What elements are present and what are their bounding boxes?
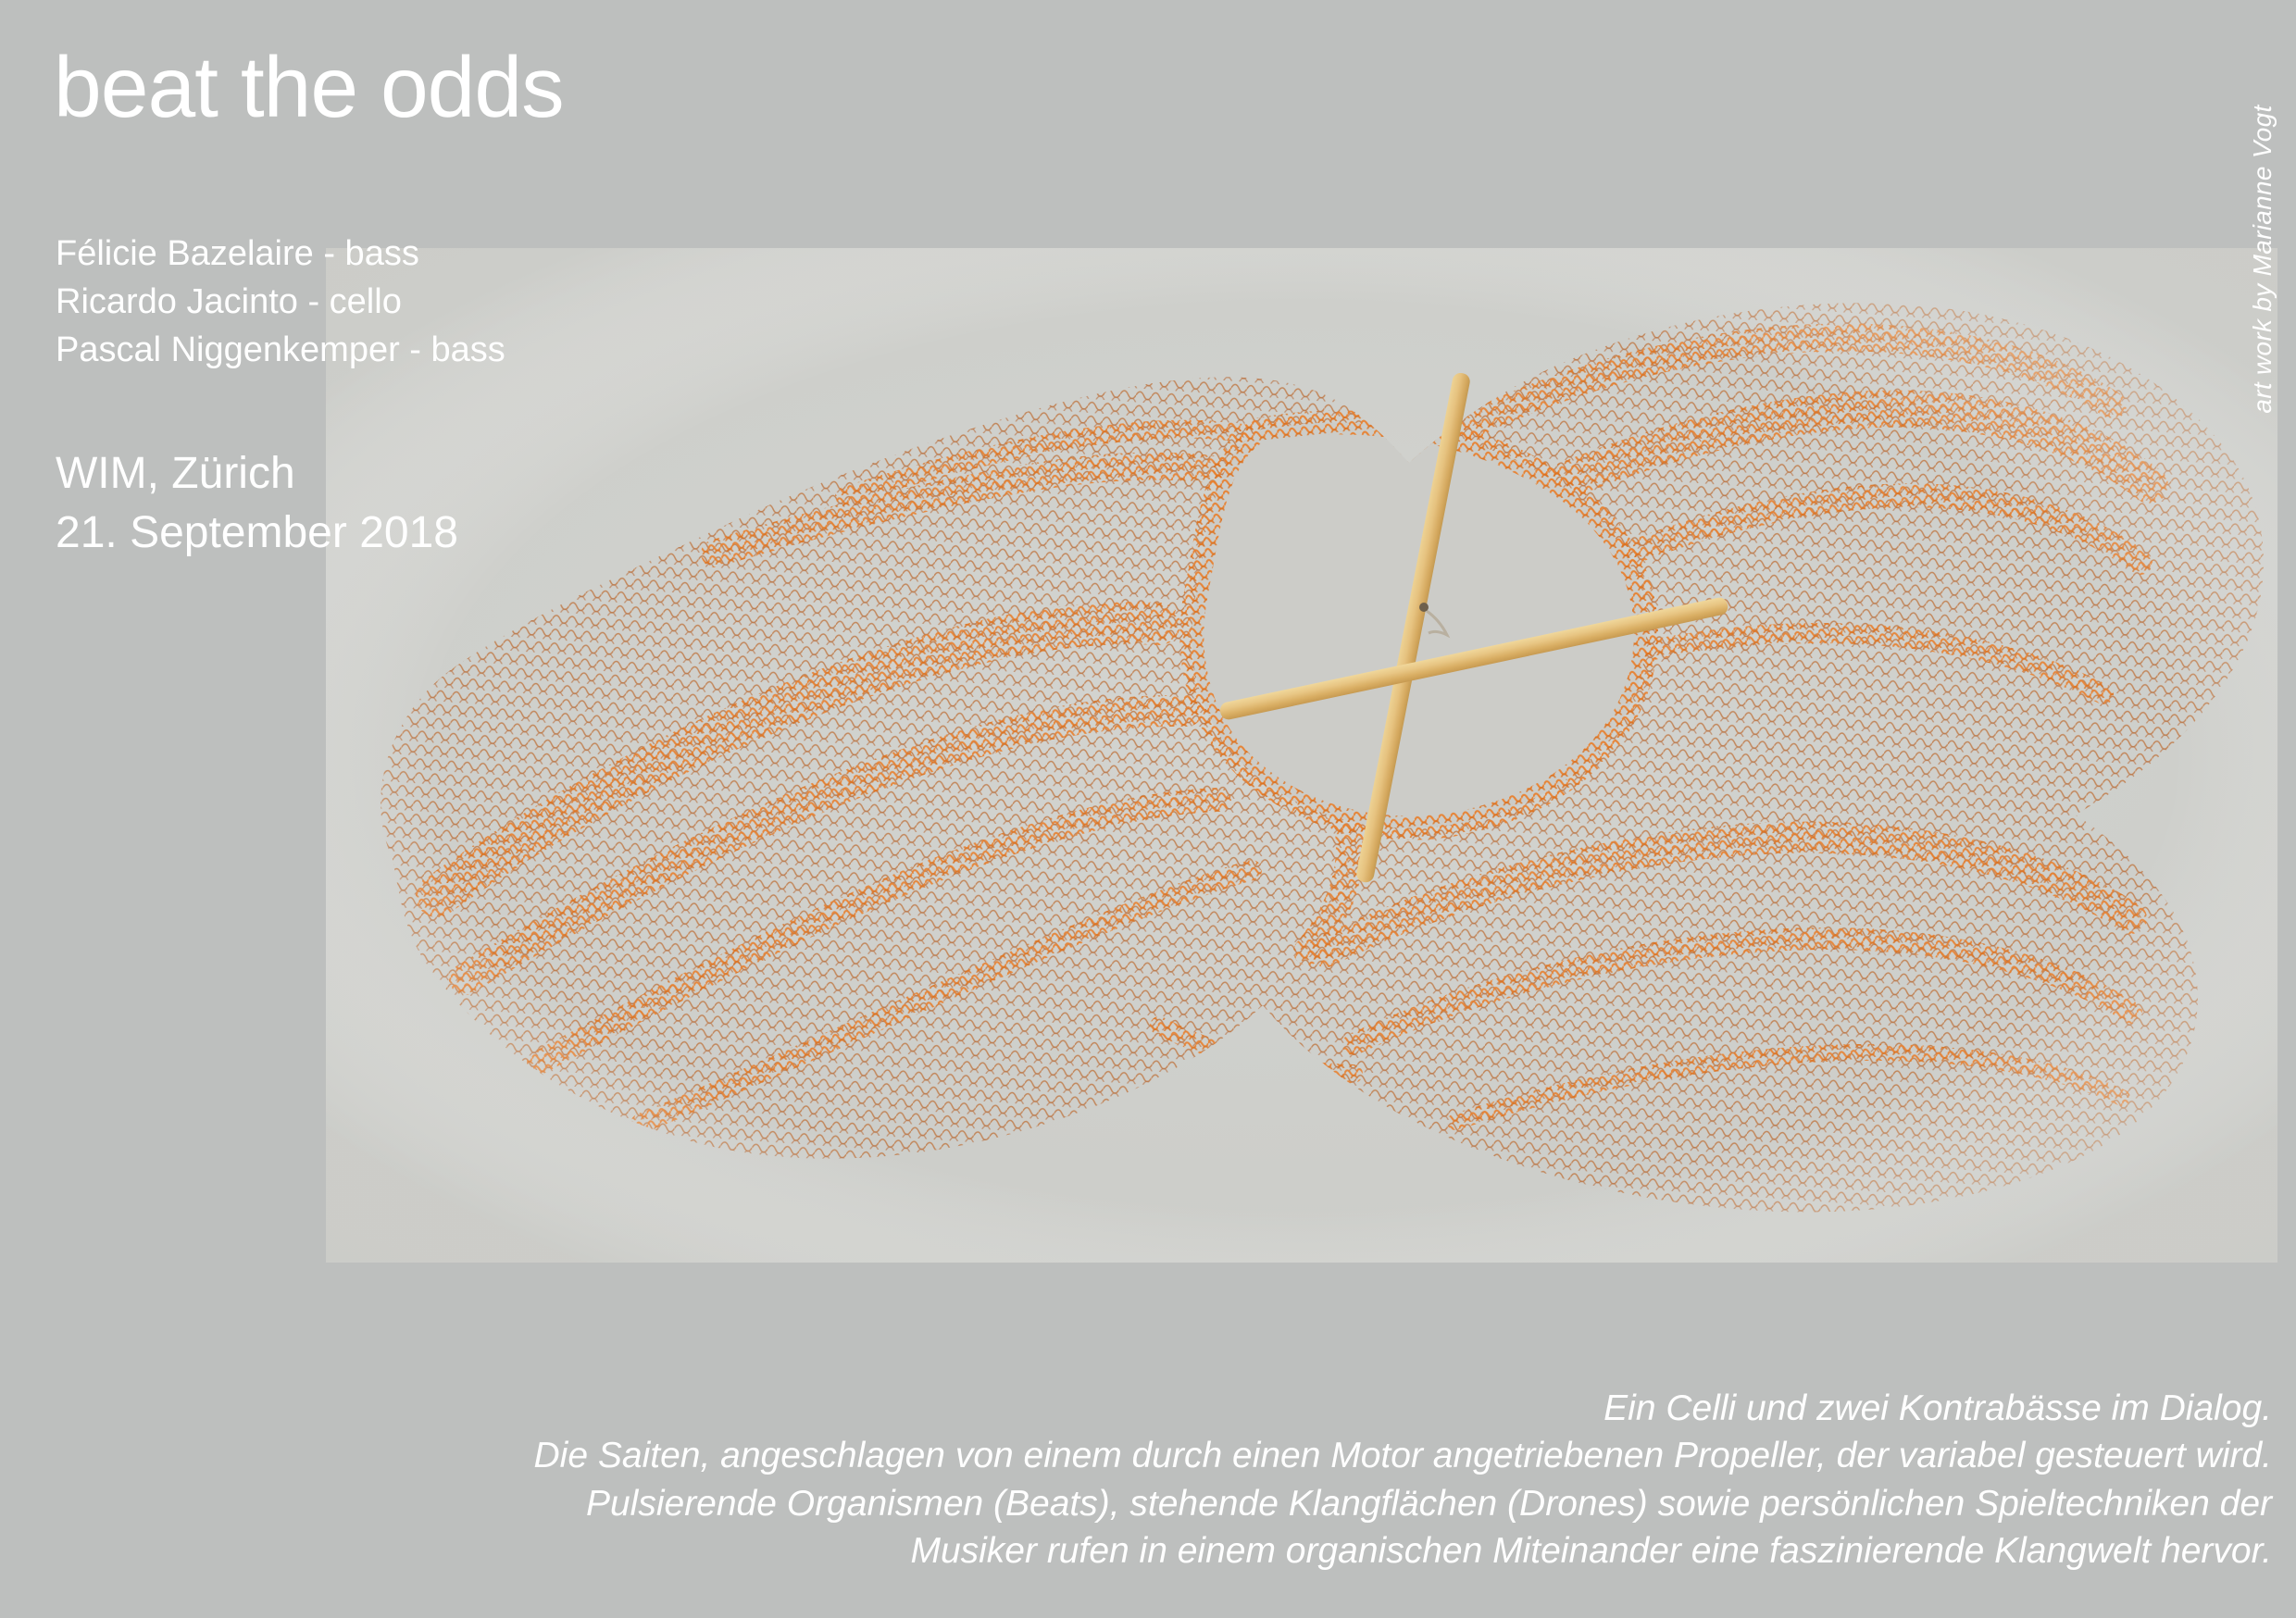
description-block: Ein Celli und zwei Kontrabässe im Dialog… bbox=[0, 1385, 2272, 1575]
venue-block: WIM, Zürich 21. September 2018 bbox=[56, 444, 458, 563]
performer-item-1: Félicie Bazelaire - bass bbox=[56, 230, 505, 278]
performer-item-2: Ricardo Jacinto - cello bbox=[56, 278, 505, 326]
performer-list: Félicie Bazelaire - bass Ricardo Jacinto… bbox=[56, 230, 505, 374]
description-line-3: Pulsierende Organismen (Beats), stehende… bbox=[0, 1480, 2272, 1527]
concert-poster: beat the odds Félicie Bazelaire - bass R… bbox=[0, 0, 2296, 1618]
venue-date: 21. September 2018 bbox=[56, 504, 458, 563]
artwork-credit: art work by Marianne Vogt bbox=[2237, 9, 2289, 509]
venue-place: WIM, Zürich bbox=[56, 444, 458, 504]
page-title: beat the odds bbox=[54, 44, 564, 131]
description-line-2: Die Saiten, angeschlagen von einem durch… bbox=[0, 1432, 2272, 1479]
artwork-credit-label: art work by Marianne Vogt bbox=[2248, 105, 2277, 413]
performer-item-3: Pascal Niggenkemper - bass bbox=[56, 326, 505, 374]
description-line-1: Ein Celli und zwei Kontrabässe im Dialog… bbox=[0, 1385, 2272, 1432]
description-line-4: Musiker rufen in einem organischen Mitei… bbox=[0, 1527, 2272, 1574]
artwork-photo-panel bbox=[326, 248, 2277, 1263]
